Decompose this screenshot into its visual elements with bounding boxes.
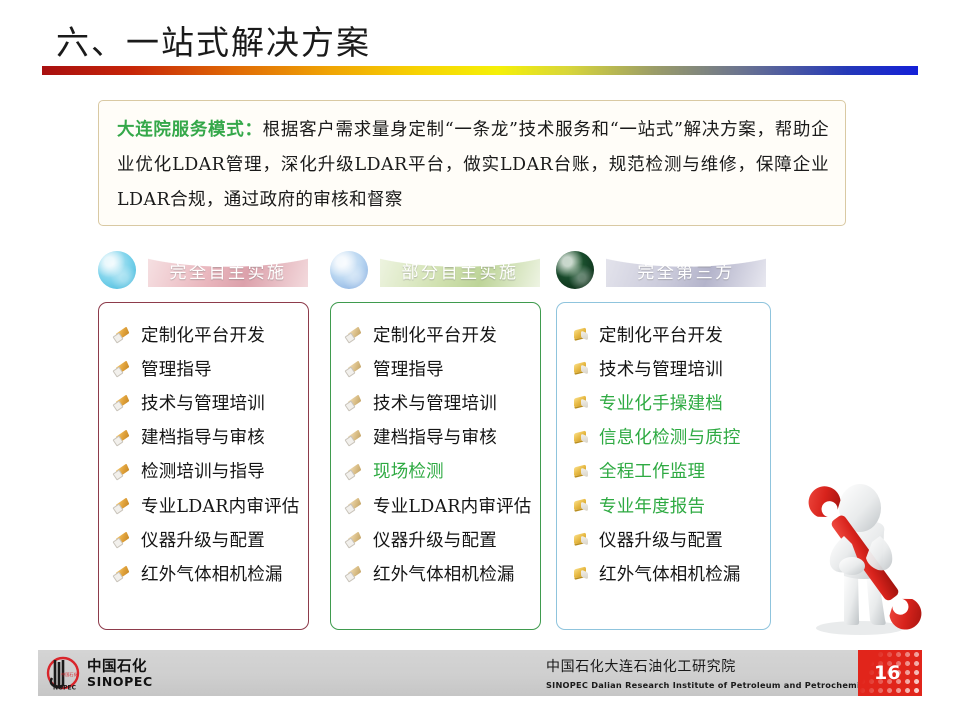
list-item-label: 全程工作监理 xyxy=(599,458,705,483)
service-list-column-3: 定制化平台开发 技术与管理培训 专业化手操建档 信息化检测与质控 全程工作监理 … xyxy=(556,302,771,630)
service-model-callout: 大连院服务模式：根据客户需求量身定制“一条龙”技术服务和“一站式”解决方案，帮助… xyxy=(98,100,846,226)
list-item[interactable]: 定制化平台开发 xyxy=(345,317,532,351)
list-item-label: 技术与管理培训 xyxy=(373,390,497,415)
pencil-bullet-icon xyxy=(113,429,135,445)
pencil-bullet-icon xyxy=(113,565,135,581)
column-header-1: 完全自主实施 xyxy=(98,248,318,292)
list-item-label: 专业化手操建档 xyxy=(599,390,723,415)
list-item[interactable]: 专业化手操建档 xyxy=(571,385,762,419)
page-title: 六、一站式解决方案 xyxy=(56,16,371,64)
gold-cube-bullet-icon xyxy=(571,429,593,445)
callout-lead-label: 大连院服务模式： xyxy=(117,120,263,140)
list-item-label: 仪器升级与配置 xyxy=(599,527,723,552)
list-item-label: 技术与管理培训 xyxy=(599,356,723,381)
page-number: 16 xyxy=(874,662,900,684)
pencil-bullet-icon xyxy=(113,531,135,547)
list-item-label: 红外气体相机检漏 xyxy=(373,561,515,586)
column-header-3: 完全第三方 xyxy=(556,248,776,292)
pencil-bullet-icon xyxy=(345,463,367,479)
pencil-bullet-icon xyxy=(345,497,367,513)
list-item[interactable]: 定制化平台开发 xyxy=(113,317,300,351)
gold-cube-bullet-icon xyxy=(571,565,593,581)
pencil-bullet-icon xyxy=(345,429,367,445)
list-item[interactable]: 红外气体相机检漏 xyxy=(571,556,762,590)
list-item[interactable]: 专业年度报告 xyxy=(571,488,762,522)
list-item[interactable]: 红外气体相机检漏 xyxy=(113,556,300,590)
slide-root: 六、一站式解决方案 大连院服务模式：根据客户需求量身定制“一条龙”技术服务和“一… xyxy=(0,0,960,720)
list-item-label: 建档指导与审核 xyxy=(373,424,497,449)
column-header-1-label: 完全自主实施 xyxy=(148,253,308,287)
list-item-label: 定制化平台开发 xyxy=(141,322,265,347)
list-item[interactable]: 定制化平台开发 xyxy=(571,317,762,351)
service-list-column-1: 定制化平台开发 管理指导 技术与管理培训 建档指导与审核 检测培训与指导 专业L… xyxy=(98,302,309,630)
pencil-bullet-icon xyxy=(345,326,367,342)
list-item-label: 技术与管理培训 xyxy=(141,390,265,415)
svg-text:中国石化: 中国石化 xyxy=(61,671,79,678)
list-item[interactable]: 专业LDAR内审评估 xyxy=(113,488,300,522)
pencil-bullet-icon xyxy=(113,497,135,513)
list-item-label: 建档指导与审核 xyxy=(141,424,265,449)
list-item-label: 专业LDAR内审评估 xyxy=(373,493,531,518)
dark-green-sphere-icon xyxy=(556,251,594,289)
gold-cube-bullet-icon xyxy=(571,497,593,513)
pencil-bullet-icon xyxy=(113,463,135,479)
list-item-label: 定制化平台开发 xyxy=(373,322,497,347)
column-header-3-label: 完全第三方 xyxy=(606,253,766,287)
pencil-bullet-icon xyxy=(345,531,367,547)
list-item[interactable]: 技术与管理培训 xyxy=(345,385,532,419)
service-list-column-2: 定制化平台开发 管理指导 技术与管理培训 建档指导与审核 现场检测 专业LDAR… xyxy=(330,302,541,630)
page-number-box: 16 xyxy=(858,650,922,696)
organization-name-en: SINOPEC Dalian Research Institute of Pet… xyxy=(546,680,879,690)
pencil-bullet-icon xyxy=(113,326,135,342)
gold-cube-bullet-icon xyxy=(571,360,593,376)
gold-cube-bullet-icon xyxy=(571,463,593,479)
list-item[interactable]: 全程工作监理 xyxy=(571,454,762,488)
list-item[interactable]: 管理指导 xyxy=(113,351,300,385)
list-item-label: 定制化平台开发 xyxy=(599,322,723,347)
list-item-label: 红外气体相机检漏 xyxy=(141,561,283,586)
organization-block: 中国石化大连石油化工研究院 SINOPEC Dalian Research In… xyxy=(546,656,879,690)
list-item[interactable]: 仪器升级与配置 xyxy=(345,522,532,556)
list-item[interactable]: 管理指导 xyxy=(345,351,532,385)
list-item[interactable]: 红外气体相机检漏 xyxy=(345,556,532,590)
pencil-bullet-icon xyxy=(345,360,367,376)
list-item-label: 信息化检测与质控 xyxy=(599,424,741,449)
callout-text: 大连院服务模式：根据客户需求量身定制“一条龙”技术服务和“一站式”解决方案，帮助… xyxy=(117,113,829,218)
pencil-bullet-icon xyxy=(113,394,135,410)
list-item[interactable]: 现场检测 xyxy=(345,454,532,488)
list-item-label: 仪器升级与配置 xyxy=(141,527,265,552)
logo-en-label: SINOPEC xyxy=(87,675,153,688)
list-item-label: 现场检测 xyxy=(373,458,444,483)
list-item-label: 仪器升级与配置 xyxy=(373,527,497,552)
sinopec-emblem-icon: 中国石化 NOPEC xyxy=(46,656,80,692)
person-with-wrench-icon xyxy=(800,478,935,638)
light-blue-sphere-icon xyxy=(330,251,368,289)
organization-name-cn: 中国石化大连石油化工研究院 xyxy=(546,656,879,676)
list-item[interactable]: 建档指导与审核 xyxy=(113,420,300,454)
sinopec-logo: 中国石化 NOPEC 中国石化 SINOPEC xyxy=(46,656,153,692)
pencil-bullet-icon xyxy=(345,565,367,581)
column-header-2: 部分自主实施 xyxy=(330,248,550,292)
gold-cube-bullet-icon xyxy=(571,531,593,547)
list-item[interactable]: 仪器升级与配置 xyxy=(113,522,300,556)
column-header-2-label: 部分自主实施 xyxy=(380,253,540,287)
list-item[interactable]: 技术与管理培训 xyxy=(571,351,762,385)
list-item[interactable]: 信息化检测与质控 xyxy=(571,420,762,454)
title-gradient-rule xyxy=(42,66,918,75)
gold-cube-bullet-icon xyxy=(571,326,593,342)
list-item-label: 专业LDAR内审评估 xyxy=(141,493,299,518)
list-item-label: 红外气体相机检漏 xyxy=(599,561,741,586)
svg-text:NOPEC: NOPEC xyxy=(53,685,77,692)
gold-cube-bullet-icon xyxy=(571,394,593,410)
list-item[interactable]: 检测培训与指导 xyxy=(113,454,300,488)
list-item[interactable]: 专业LDAR内审评估 xyxy=(345,488,532,522)
list-item[interactable]: 仪器升级与配置 xyxy=(571,522,762,556)
list-item-label: 管理指导 xyxy=(141,356,212,381)
pencil-bullet-icon xyxy=(345,394,367,410)
list-item[interactable]: 建档指导与审核 xyxy=(345,420,532,454)
list-item-label: 管理指导 xyxy=(373,356,444,381)
blue-sphere-icon xyxy=(98,251,136,289)
list-item-label: 检测培训与指导 xyxy=(141,458,265,483)
pencil-bullet-icon xyxy=(113,360,135,376)
logo-cn-label: 中国石化 xyxy=(87,660,153,675)
list-item-label: 专业年度报告 xyxy=(599,493,705,518)
list-item[interactable]: 技术与管理培训 xyxy=(113,385,300,419)
